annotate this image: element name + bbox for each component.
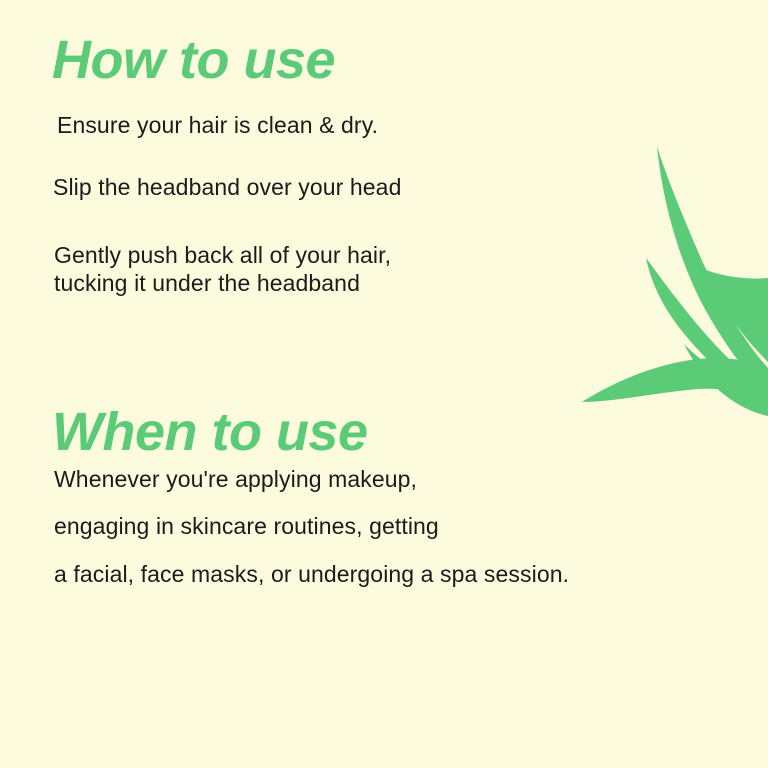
leaf-blade-mid: [646, 258, 768, 404]
leaf-blade-lower: [684, 344, 768, 416]
when-to-use-heading: When to use: [52, 405, 368, 459]
how-to-use-step-1: Ensure your hair is clean & dry.: [57, 112, 378, 139]
how-to-use-heading: How to use: [52, 33, 335, 87]
how-to-use-step-2: Slip the headband over your head: [53, 174, 401, 201]
when-to-use-line-3: a facial, face masks, or undergoing a sp…: [54, 561, 569, 588]
leaf-blade-bottom-curved: [582, 358, 768, 406]
when-to-use-line-2: engaging in skincare routines, getting: [54, 513, 439, 540]
slide-canvas: How to use Ensure your hair is clean & d…: [0, 0, 768, 768]
leaf-illustration: [560, 130, 768, 420]
how-to-use-step-3: Gently push back all of your hair, tucki…: [54, 241, 391, 297]
when-to-use-line-1: Whenever you're applying makeup,: [54, 466, 417, 493]
leaf-blade-tall: [657, 146, 768, 396]
leaf-blade-upper-right: [706, 270, 768, 362]
